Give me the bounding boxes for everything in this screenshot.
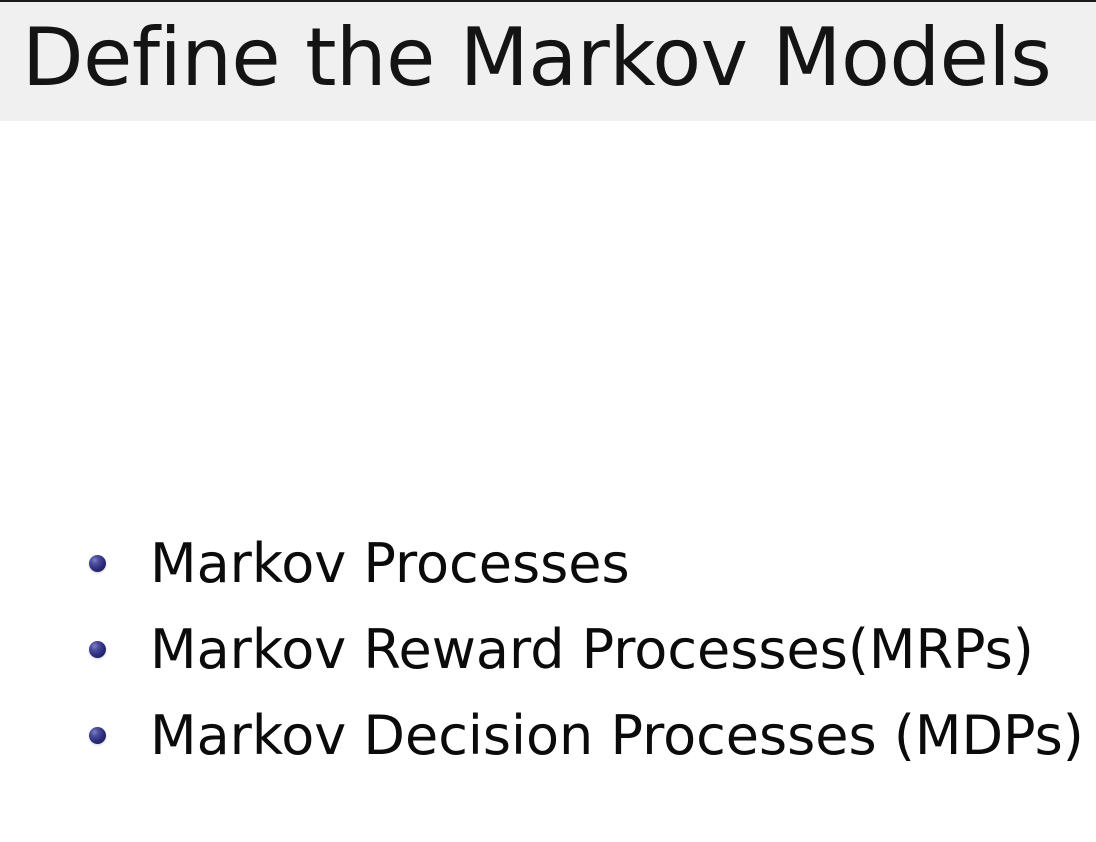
list-item: Markov Decision Processes (MDPs) bbox=[0, 693, 1096, 779]
ball-bullet-icon bbox=[89, 727, 106, 744]
itemize-list: Markov Processes Markov Reward Processes… bbox=[0, 521, 1096, 779]
list-item: Markov Processes bbox=[0, 521, 1096, 607]
ball-bullet-icon bbox=[89, 555, 106, 572]
list-item-label: Markov Reward Processes(MRPs) bbox=[150, 620, 1034, 680]
presentation-slide: Define the Markov Models Markov Processe… bbox=[0, 0, 1096, 842]
list-item-label: Markov Processes bbox=[150, 534, 630, 594]
list-item-label: Markov Decision Processes (MDPs) bbox=[150, 706, 1084, 766]
frame-title-bar: Define the Markov Models bbox=[0, 2, 1096, 121]
page-title: Define the Markov Models bbox=[22, 8, 1051, 108]
list-item: Markov Reward Processes(MRPs) bbox=[0, 607, 1096, 693]
slide-body: Markov Processes Markov Reward Processes… bbox=[0, 121, 1096, 842]
ball-bullet-icon bbox=[89, 641, 106, 658]
